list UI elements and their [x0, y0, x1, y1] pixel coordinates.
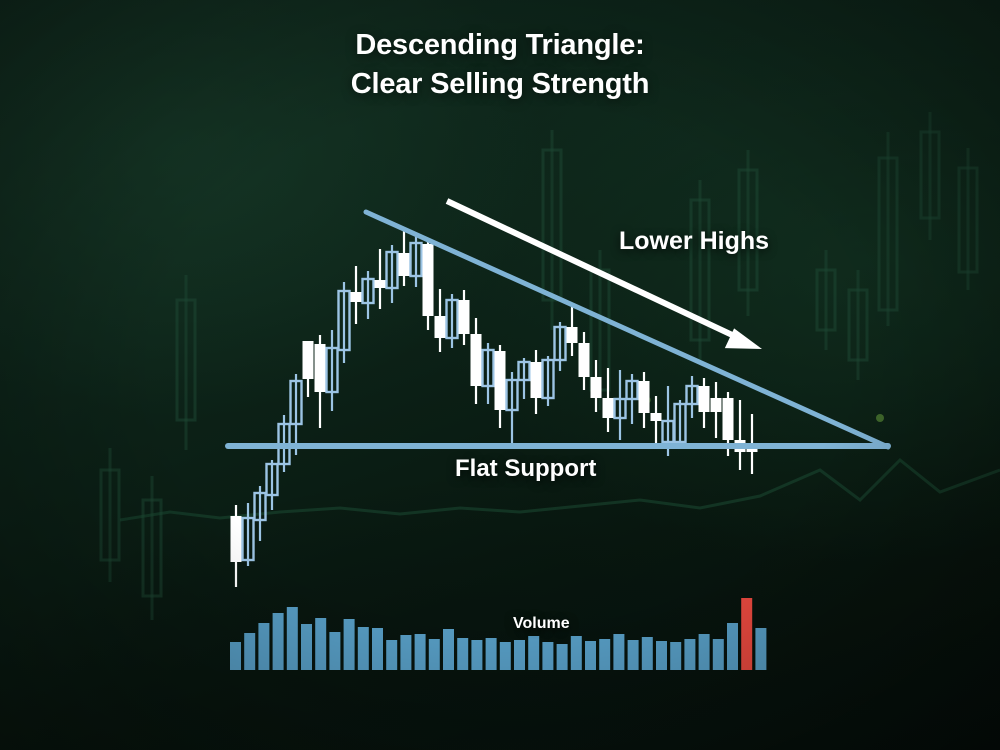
lower-highs-label: Lower Highs — [619, 227, 769, 256]
volume-bars-group — [230, 598, 766, 670]
chart-canvas: Descending Triangle: Clear Selling Stren… — [0, 0, 1000, 750]
volume-label: Volume — [513, 615, 570, 633]
page-title: Descending Triangle: Clear Selling Stren… — [0, 26, 1000, 104]
flat-support-label: Flat Support — [455, 455, 596, 483]
candlesticks-group — [231, 230, 758, 587]
trend-arrow — [447, 201, 762, 349]
candlestick-chart — [0, 0, 1000, 750]
